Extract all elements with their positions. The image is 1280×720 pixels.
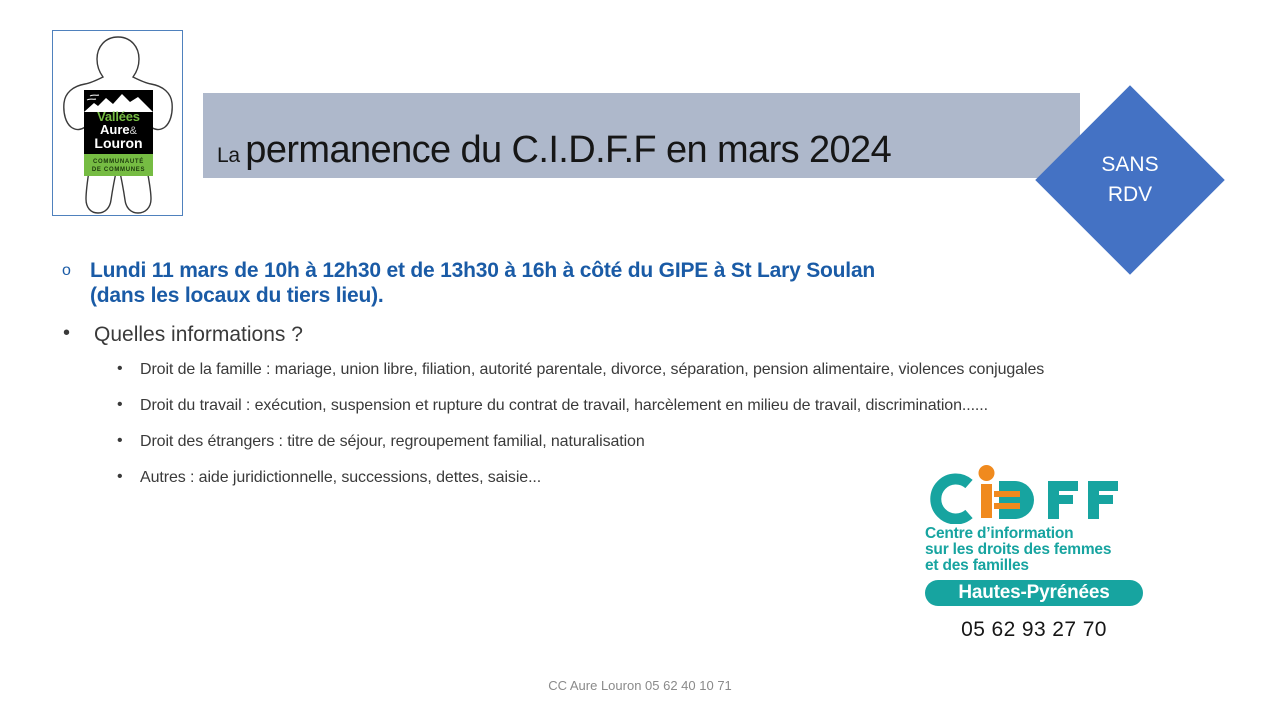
bullet-main-line1: Lundi 11 mars de 10h à 12h30 et de 13h30… [90,258,1146,283]
bullet-marker-dot-icon: • [117,467,123,487]
cidff-tagline-line2: sur les droits des femmes [925,542,1153,558]
list-item: • Droit de la famille : mariage, union l… [111,360,1146,380]
cidff-tagline-line1: Centre d’information [925,526,1153,542]
list-item-label: Droit de la famille : mariage, union lib… [140,361,1044,378]
commune-logo-louron: Louron [84,136,153,151]
list-item: • Droit des étrangers : titre de séjour,… [111,432,1146,452]
bullet-marker-dot-icon: • [117,359,123,379]
list-item: • Droit du travail : exécution, suspensi… [111,396,1146,416]
list-item-label: Droit des étrangers : titre de séjour, r… [140,433,645,450]
bullet-marker-hollow-circle-icon: o [62,258,71,283]
cidff-tagline: Centre d’information sur les droits des … [925,526,1153,574]
commune-logo-strip: COMMUNAUTÉ DE COMMUNES [84,154,153,176]
cidff-phone-number: 05 62 93 27 70 [925,618,1143,642]
commune-logo-strip-line2: DE COMMUNES [84,166,153,174]
cidff-logo: Centre d’information sur les droits des … [925,462,1153,642]
cidff-tagline-line3: et des familles [925,558,1153,574]
list-item-label: Autres : aide juridictionnelle, successi… [140,469,541,486]
commune-logo: Vallées Aure& Louron COMMUNAUTÉ DE COMMU… [52,30,183,216]
slide-footer: CC Aure Louron 05 62 40 10 71 [0,678,1280,693]
title-banner: La permanence du C.I.D.F.F en mars 2024 [203,93,1080,178]
commune-logo-strip-line1: COMMUNAUTÉ [84,158,153,166]
cidff-region-badge: Hautes-Pyrénées [925,580,1143,606]
cidff-logotype-icon [925,462,1147,524]
slide-canvas: Vallées Aure& Louron COMMUNAUTÉ DE COMMU… [0,0,1280,720]
bullet-marker-dot-icon: • [117,395,123,415]
bullet-main: o Lundi 11 mars de 10h à 12h30 et de 13h… [56,258,1146,308]
list-item-label: Droit du travail : exécution, suspension… [140,397,988,414]
page-title: La permanence du C.I.D.F.F en mars 2024 [217,129,891,172]
cidff-wordmark-icon [925,462,1147,524]
bullet-marker-dot-icon: • [117,431,123,451]
bullet-marker-dot-icon: • [63,320,70,346]
bullet-main-line2: (dans les locaux du tiers lieu). [90,283,1146,308]
page-title-main: permanence du C.I.D.F.F en mars 2024 [245,129,891,171]
bullet-question-label: Quelles informations ? [94,323,303,346]
commune-logo-badge: Vallées Aure& Louron COMMUNAUTÉ DE COMMU… [84,90,153,176]
bullet-question: • Quelles informations ? [56,322,1146,348]
page-title-prefix: La [217,144,245,167]
